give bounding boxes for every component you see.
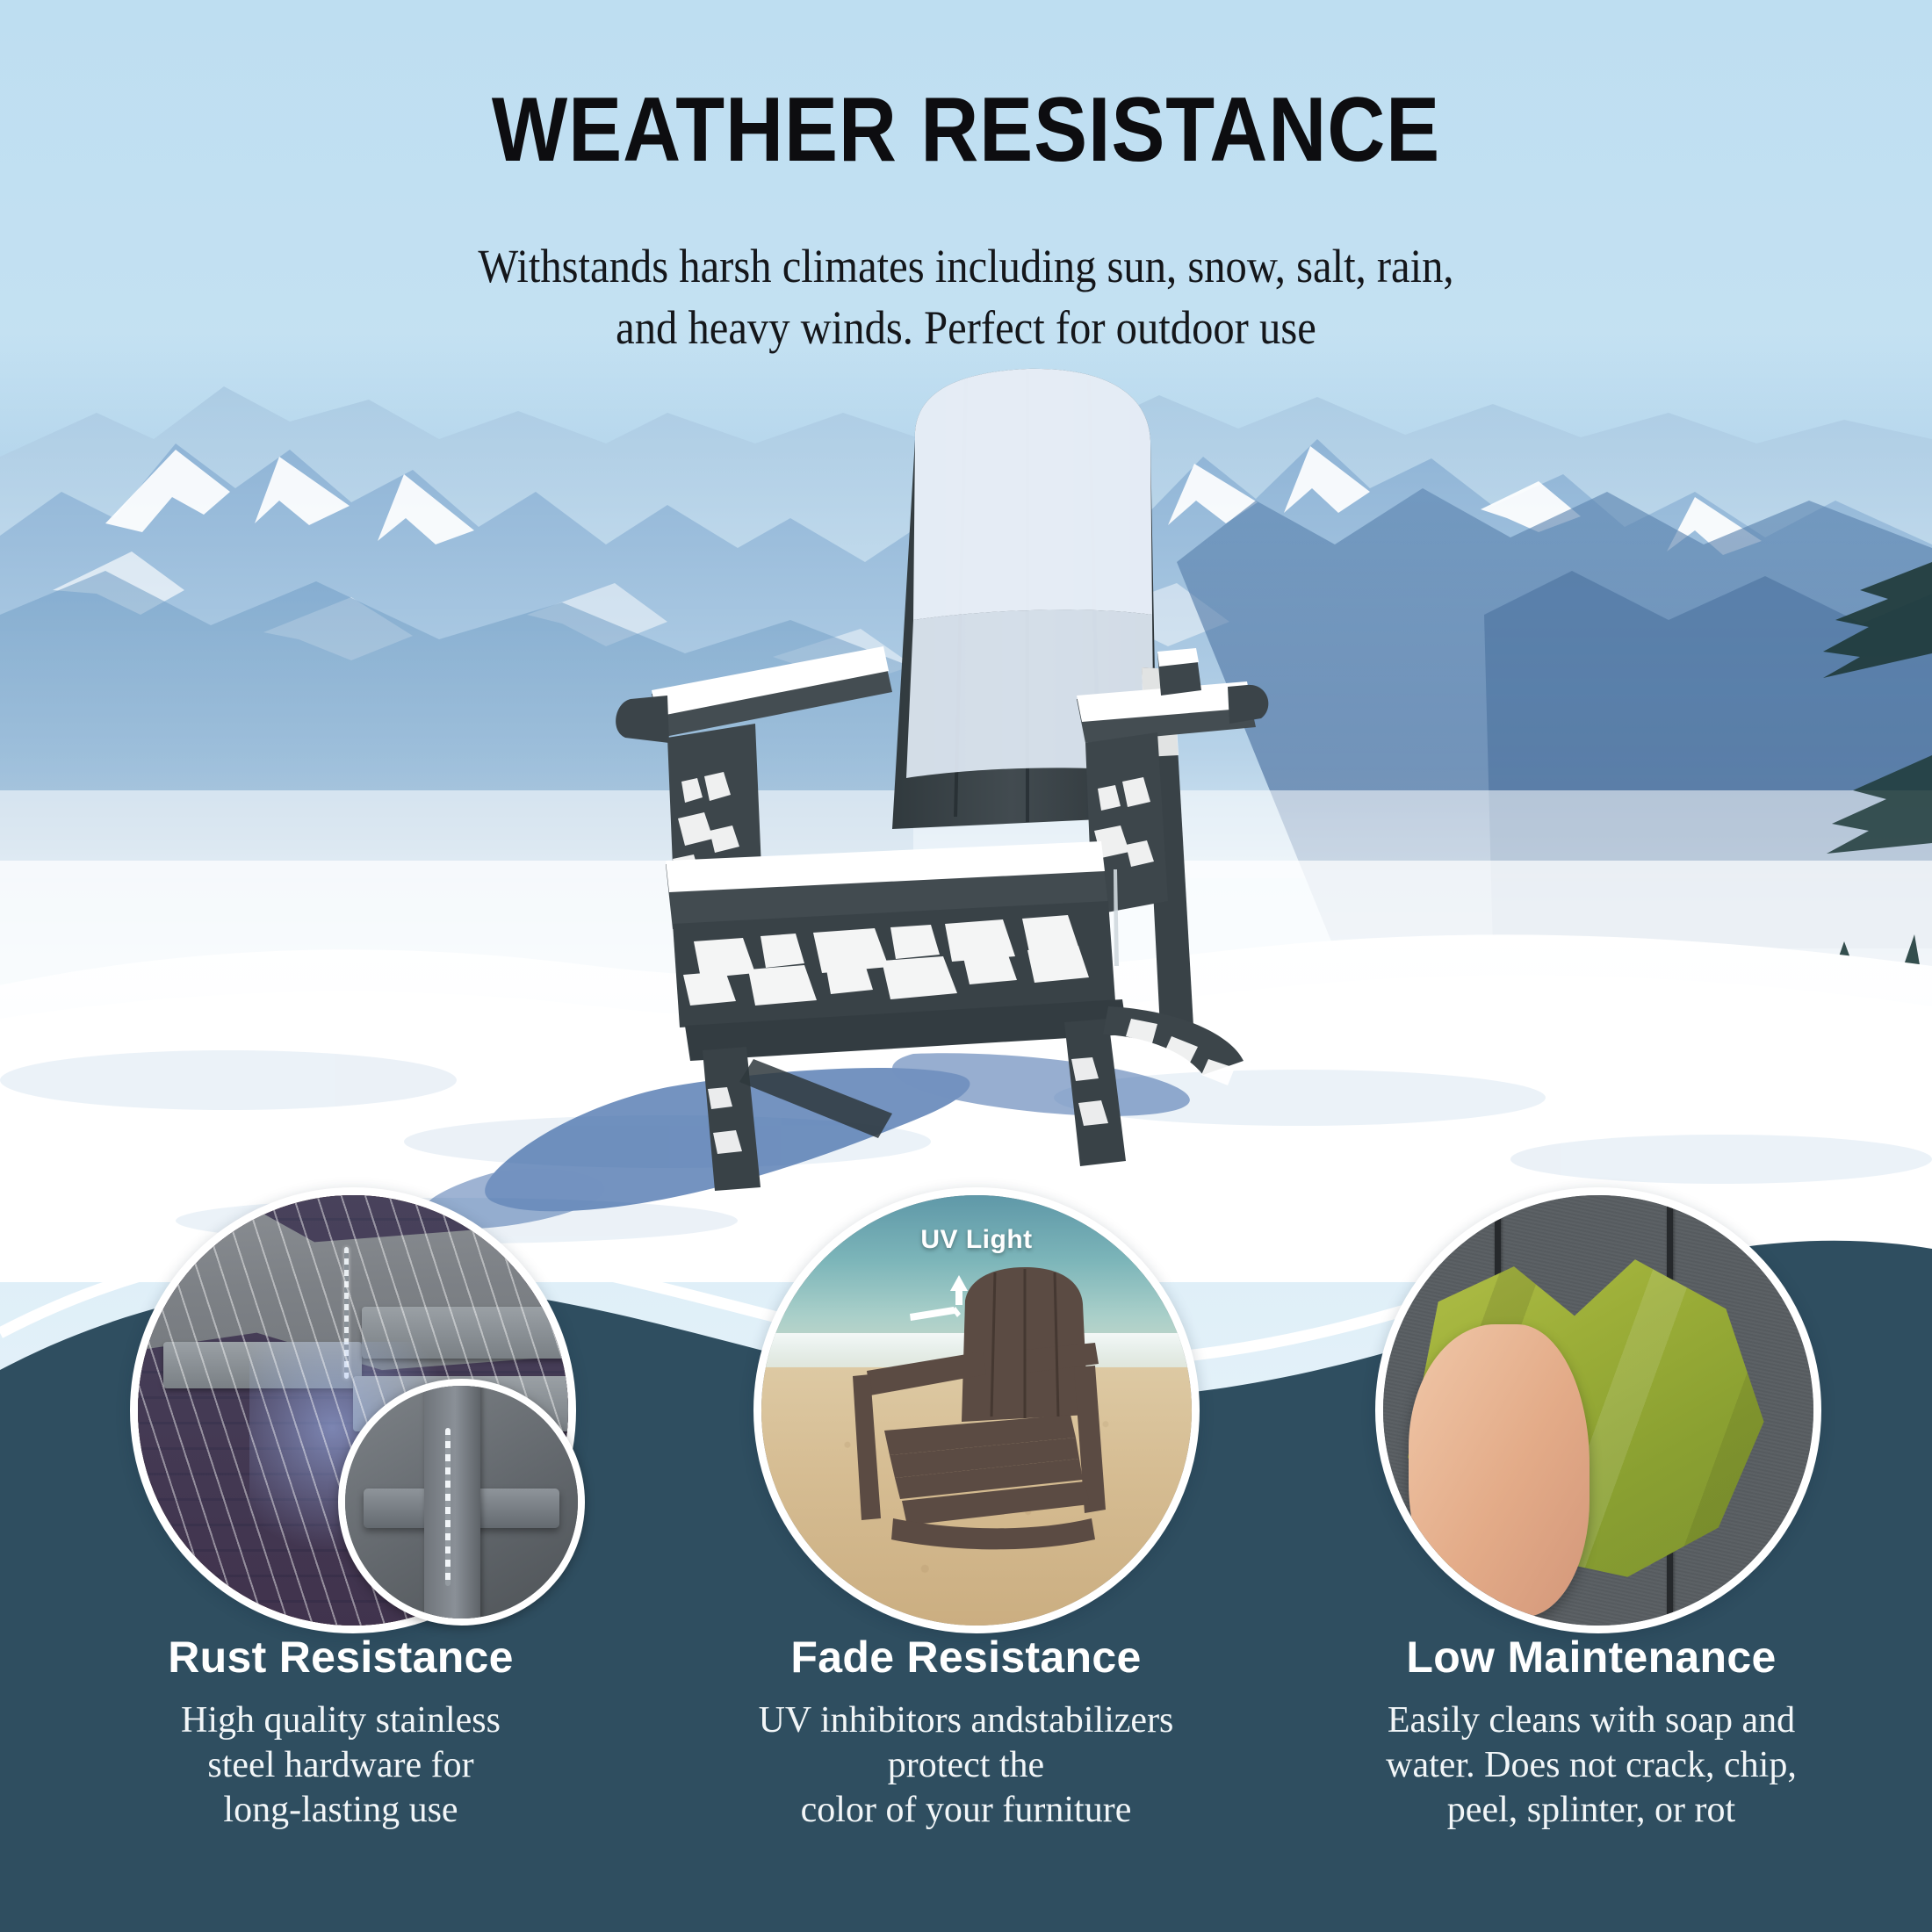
feature-description: High quality stainless steel hardware fo… (68, 1698, 613, 1834)
stainless-chain-closeup (445, 1428, 451, 1586)
beach-chair (761, 1195, 1192, 1626)
feature-description-line: High quality stainless (68, 1698, 613, 1743)
feature-card-fade-resistance: Fade Resistance UV inhibitors andstabili… (694, 1632, 1238, 1921)
feature-title: Rust Resistance (68, 1632, 613, 1683)
feature-description-line: long-lasting use (68, 1788, 613, 1833)
feature-image-low-maintenance (1375, 1187, 1821, 1633)
hardware-post (424, 1379, 480, 1626)
feature-description-line: steel hardware for (68, 1743, 613, 1788)
feature-card-row: Rust Resistance High quality stainless s… (0, 1632, 1932, 1921)
feature-description-line: water. Does not crack, chip, (1319, 1743, 1864, 1788)
uv-light-label: UV Light (761, 1225, 1192, 1255)
feature-title: Low Maintenance (1319, 1632, 1864, 1683)
feature-description-line: protect the (694, 1743, 1238, 1788)
product-feature-banner: WEATHER RESISTANCE Withstands harsh clim… (0, 0, 1932, 1932)
feature-description: Easily cleans with soap and water. Does … (1319, 1698, 1864, 1834)
feature-description-line: peel, splinter, or rot (1319, 1788, 1864, 1833)
feature-description-line: color of your furniture (694, 1788, 1238, 1833)
feature-description-line: UV inhibitors andstabilizers (694, 1698, 1238, 1743)
uv-light-arrow-icon (908, 1268, 1005, 1330)
feature-description-line: Easily cleans with soap and (1319, 1698, 1864, 1743)
hand (1409, 1324, 1590, 1617)
feature-card-low-maintenance: Low Maintenance Easily cleans with soap … (1319, 1632, 1864, 1921)
feature-image-rust-hardware-zoom (338, 1379, 585, 1626)
feature-card-rust-resistance: Rust Resistance High quality stainless s… (68, 1632, 613, 1921)
feature-description: UV inhibitors andstabilizers protect the… (694, 1698, 1238, 1834)
feature-image-fade-resistance: UV Light (753, 1187, 1200, 1633)
feature-title: Fade Resistance (694, 1632, 1238, 1683)
